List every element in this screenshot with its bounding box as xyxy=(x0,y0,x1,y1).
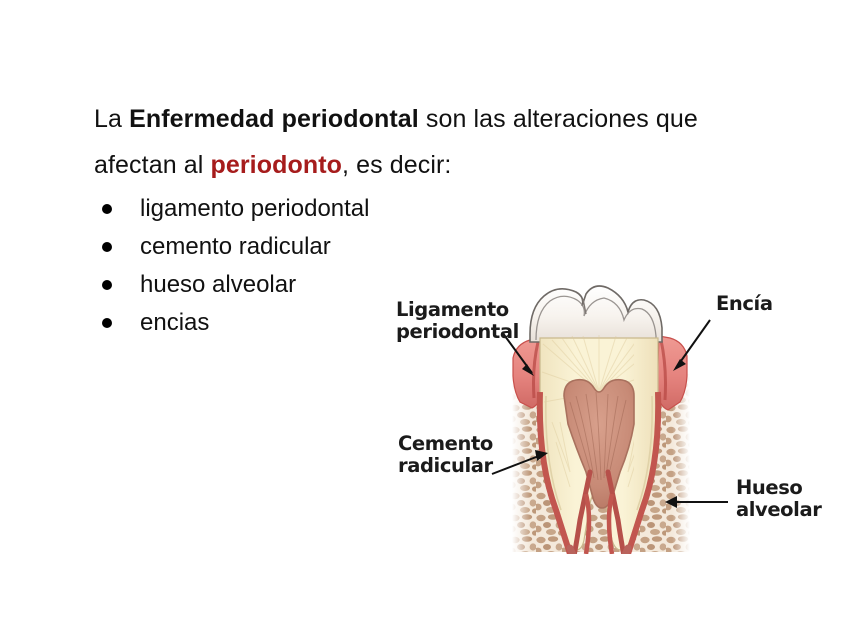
label-encia: Encía xyxy=(716,292,773,315)
list-item-label: ligamento periodontal xyxy=(140,195,370,222)
list-item-label: hueso alveolar xyxy=(140,271,296,298)
label-hueso-alveolar-line2: alveolar xyxy=(736,498,822,521)
label-hueso-alveolar-line1: Hueso xyxy=(736,476,802,499)
bullet-dot-icon xyxy=(102,204,112,214)
list-item: cemento radicular xyxy=(96,228,456,266)
lead-text-part1: La xyxy=(94,105,129,133)
list-item-label: encias xyxy=(140,309,209,336)
list-item-label: cemento radicular xyxy=(140,233,331,260)
label-cemento-radicular-line1: Cemento xyxy=(398,432,493,455)
slide-canvas: La Enfermedad periodontal son las altera… xyxy=(0,0,848,636)
lead-bold-term: Enfermedad periodontal xyxy=(129,105,419,133)
list-item: ligamento periodontal xyxy=(96,190,456,228)
label-ligamento-periodontal-line2: periodontal xyxy=(396,320,519,343)
tooth-anatomy-figure: Ligamento periodontal Encía Cemento radi… xyxy=(380,272,848,572)
bullet-dot-icon xyxy=(102,242,112,252)
lead-text-part3: , es decir: xyxy=(342,151,451,179)
label-cemento-radicular-line2: radicular xyxy=(398,454,494,477)
lead-paragraph: La Enfermedad periodontal son las altera… xyxy=(94,96,754,188)
bullet-dot-icon xyxy=(102,280,112,290)
enamel-crown xyxy=(530,286,662,342)
label-ligamento-periodontal-line1: Ligamento xyxy=(396,298,509,321)
bullet-dot-icon xyxy=(102,318,112,328)
lead-accent-term: periodonto xyxy=(210,151,342,179)
